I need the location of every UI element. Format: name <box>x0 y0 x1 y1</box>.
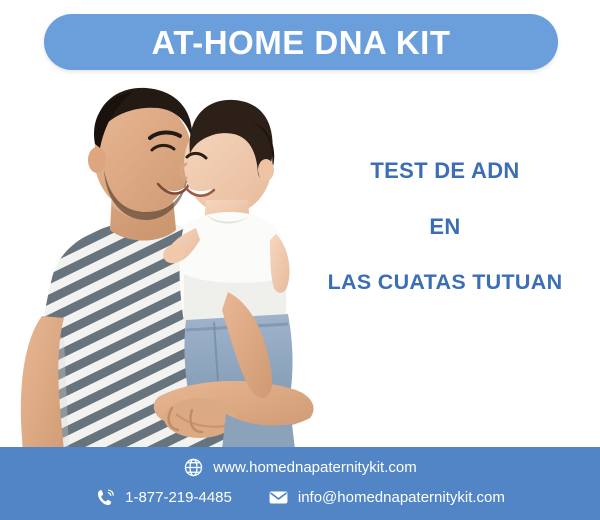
headline-block: TEST DE ADN EN LAS CUATAS TUTUAN <box>300 160 590 294</box>
poster-canvas: AT-HOME DNA KIT <box>0 0 600 520</box>
footer-website-row: www.homednapaternitykit.com <box>0 457 600 478</box>
headline-line-test-de-adn: TEST DE ADN <box>300 160 590 182</box>
headline-line-en: EN <box>300 216 590 238</box>
footer-website-item[interactable]: www.homednapaternitykit.com <box>183 457 416 478</box>
footer-phone-text: 1-877-219-4485 <box>125 490 232 505</box>
footer-phone-item[interactable]: 1-877-219-4485 <box>95 487 232 508</box>
page-title: AT-HOME DNA KIT <box>152 26 451 59</box>
family-photo-illustration <box>0 78 320 473</box>
globe-icon <box>183 457 204 478</box>
header-banner: AT-HOME DNA KIT <box>44 14 558 70</box>
phone-icon <box>95 487 116 508</box>
footer-contact-row: 1-877-219-4485 info@homednapaternitykit.… <box>0 487 600 508</box>
footer-email-item[interactable]: info@homednapaternitykit.com <box>268 487 505 508</box>
headline-line-location: LAS CUATAS TUTUAN <box>300 272 590 294</box>
footer-email-text: info@homednapaternitykit.com <box>298 490 505 505</box>
footer-website-text: www.homednapaternitykit.com <box>213 460 416 475</box>
envelope-icon <box>268 487 289 508</box>
family-photo <box>0 78 320 473</box>
footer-bar: www.homednapaternitykit.com 1-877-219-44… <box>0 447 600 520</box>
